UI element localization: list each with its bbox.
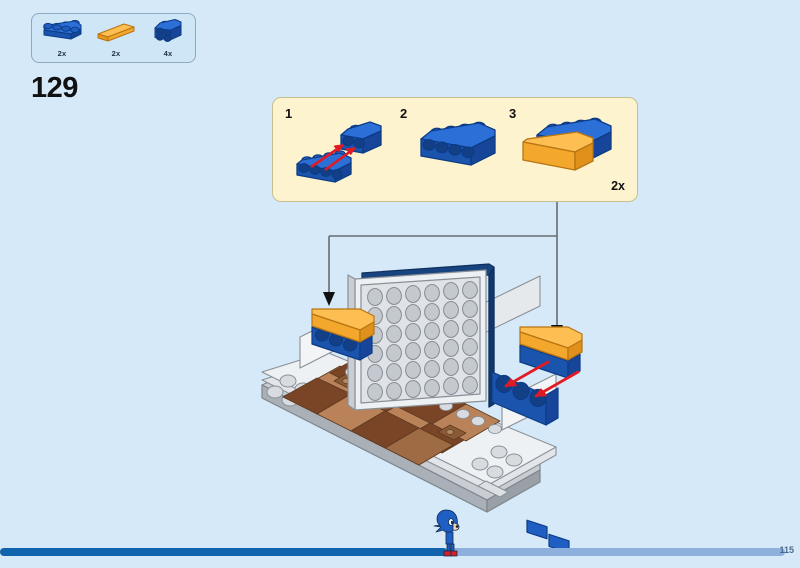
page-number: 115 [779, 545, 794, 555]
main-build-illustration [0, 0, 800, 568]
progress-bar-fill [0, 548, 447, 556]
instruction-page: 2x 2x [0, 0, 800, 568]
sonic-figure [432, 506, 474, 558]
